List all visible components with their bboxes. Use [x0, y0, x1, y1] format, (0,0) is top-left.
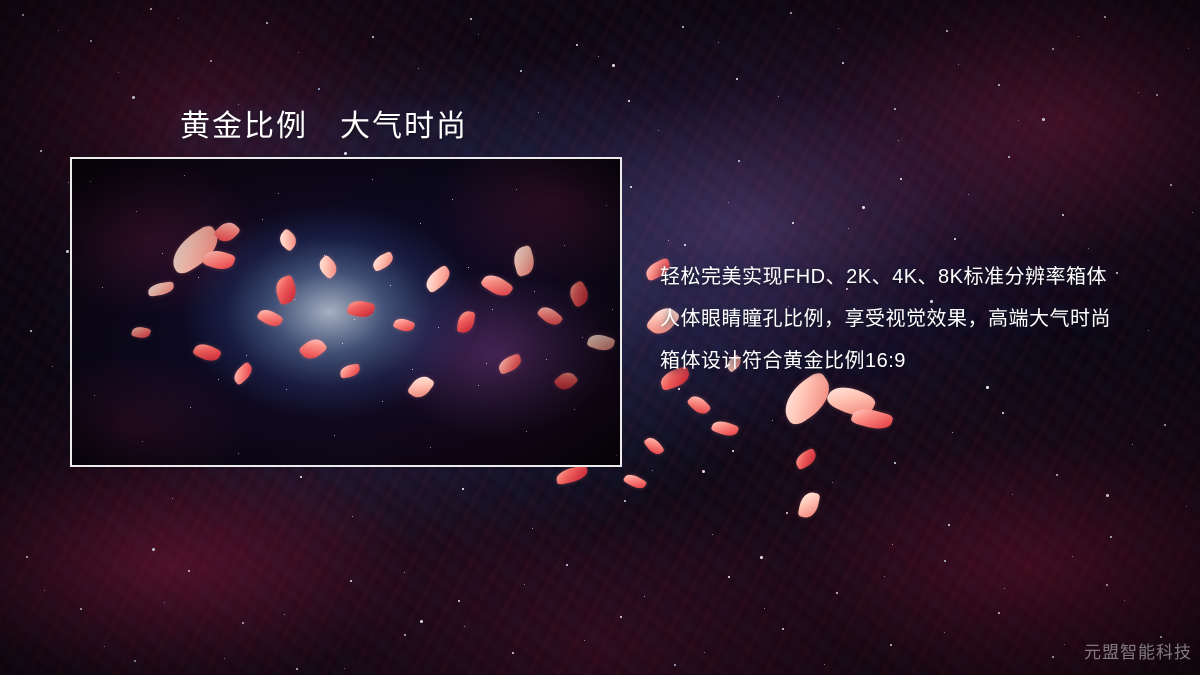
body-line-2: 人体眼睛瞳孔比例，享受视觉效果，高端大气时尚 — [660, 298, 1180, 340]
frame-vignette — [72, 159, 620, 465]
page-title: 黄金比例 大气时尚 — [180, 101, 468, 145]
petal — [686, 392, 711, 418]
body-line-1: 轻松完美实现FHD、2K、4K、8K标准分辨率箱体 — [660, 256, 1180, 298]
body-line-3: 箱体设计符合黄金比例16:9 — [660, 340, 1180, 382]
starfield-bright — [0, 0, 3, 3]
petal — [793, 448, 819, 471]
watermark: 元盟智能科技 — [1084, 638, 1192, 663]
petal — [711, 418, 740, 439]
petal — [555, 465, 589, 485]
petal — [797, 490, 820, 519]
petal — [643, 434, 665, 457]
framed-image — [70, 157, 622, 467]
presentation-slide: 黄金比例 大气时尚 轻松完美实现FHD、2K、4K、8K标准分辨率箱体 人体眼睛… — [0, 0, 1200, 675]
petal — [623, 471, 648, 492]
body-text-block: 轻松完美实现FHD、2K、4K、8K标准分辨率箱体 人体眼睛瞳孔比例，享受视觉效… — [660, 256, 1180, 382]
